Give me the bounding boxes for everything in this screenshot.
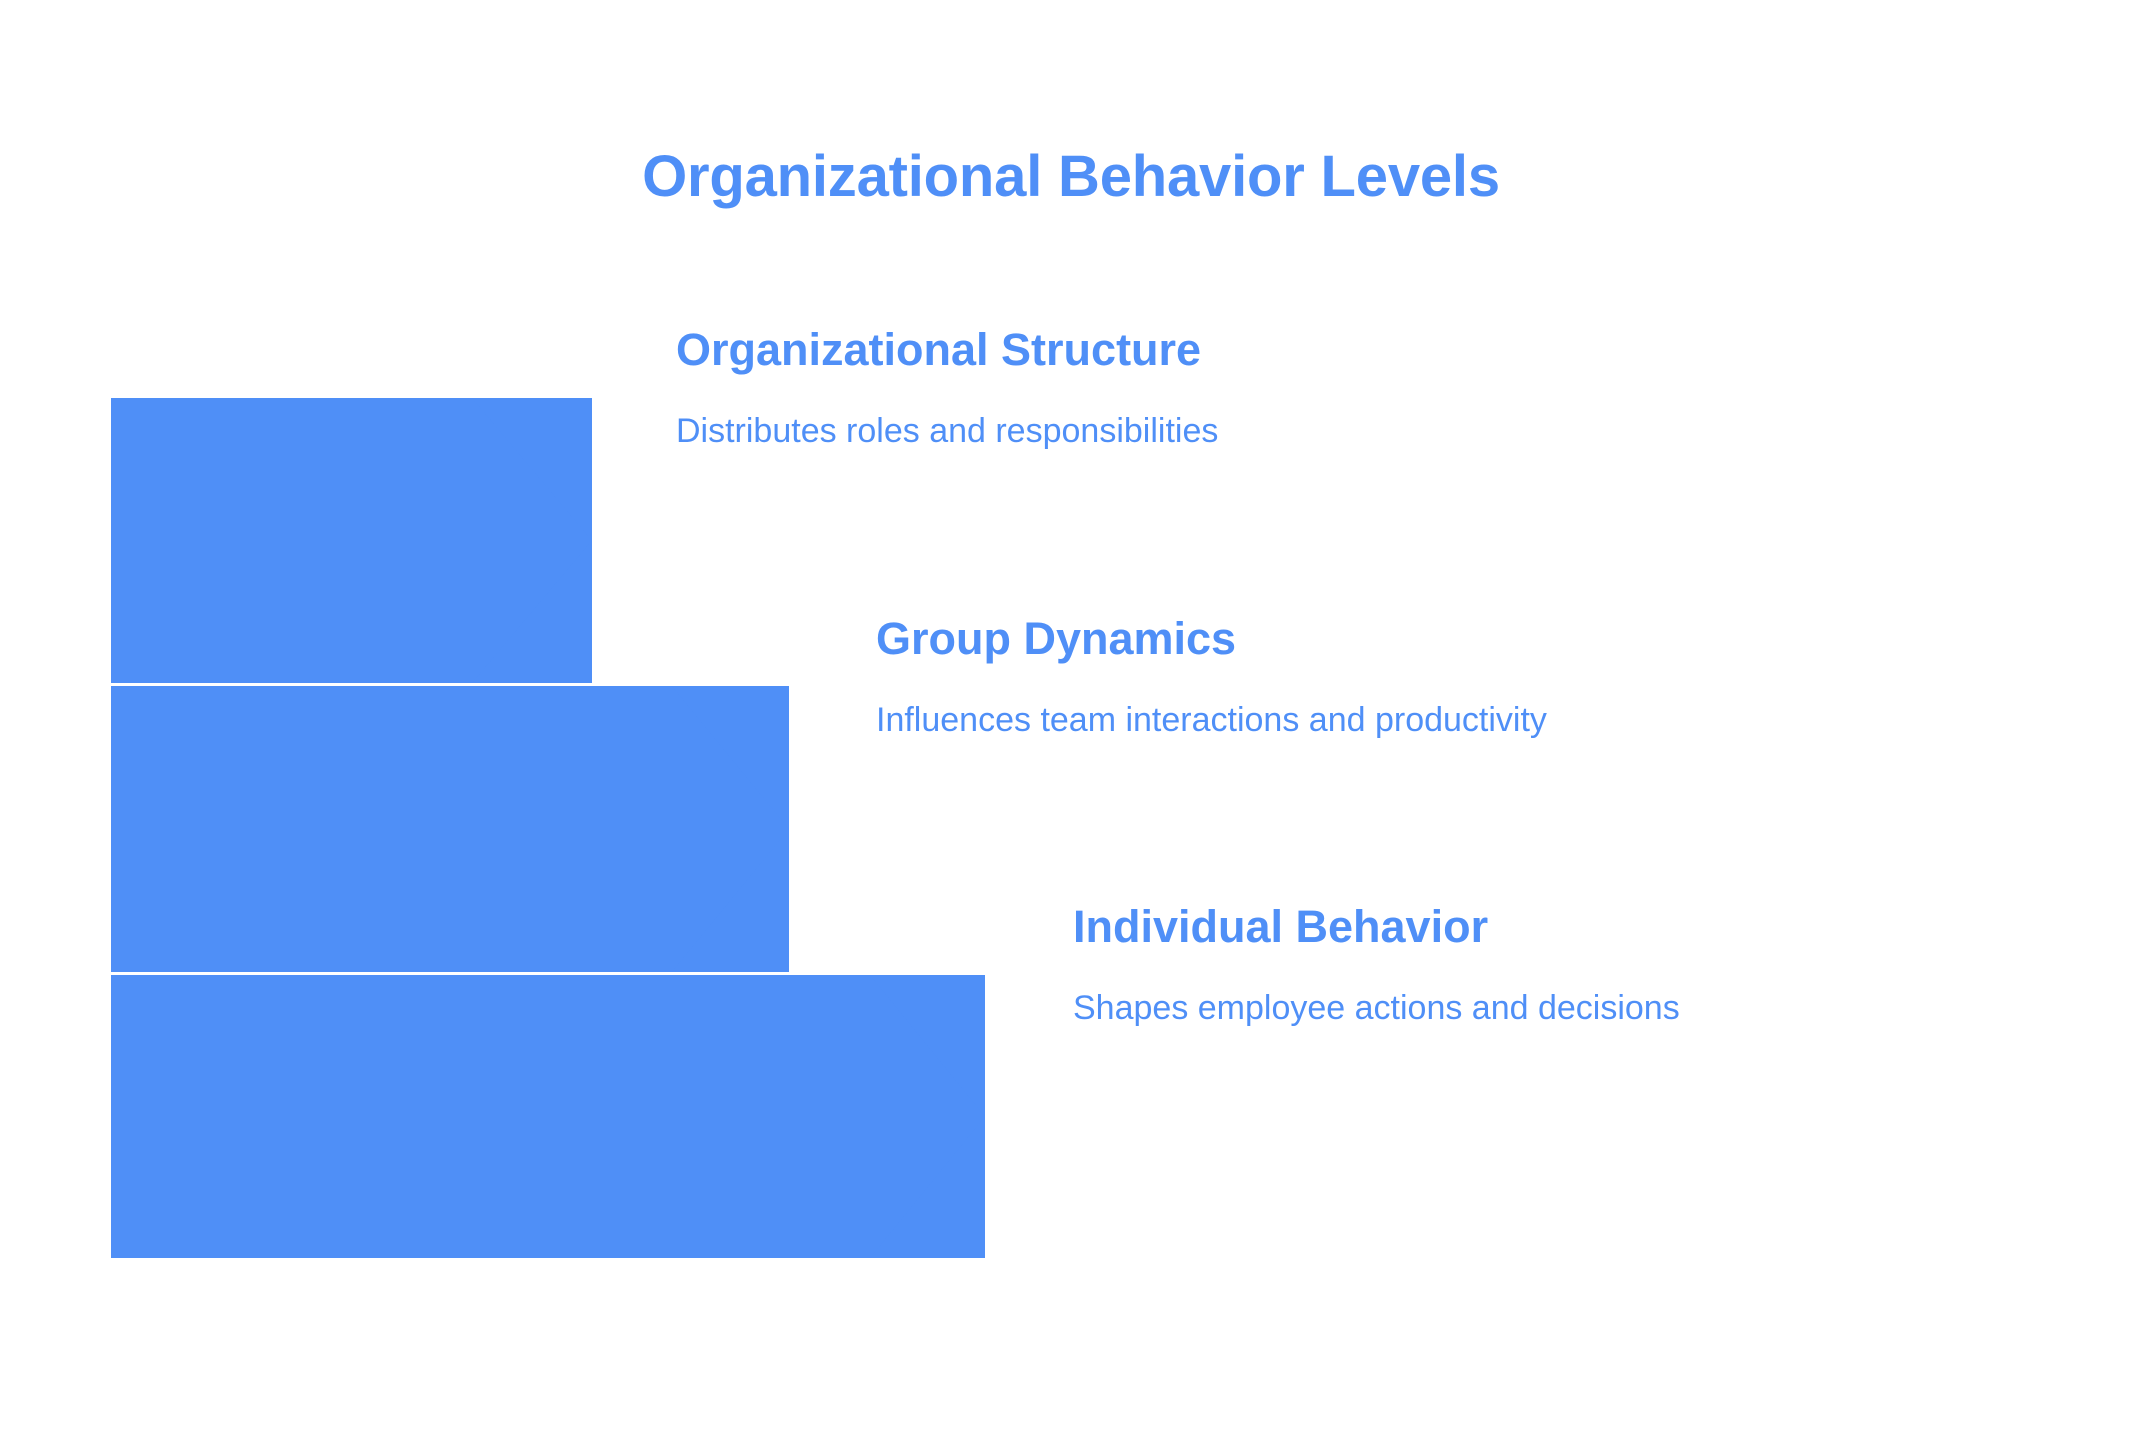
arrow-polygon xyxy=(111,686,789,972)
level-1-label: Organizational Structure xyxy=(676,326,1218,373)
level-3-description: Shapes employee actions and decisions xyxy=(1073,991,1680,1027)
arrow-polygon xyxy=(111,398,592,683)
level-2-description: Influences team interactions and product… xyxy=(876,703,1547,739)
diagram-canvas: Organizational Behavior Levels Organizat… xyxy=(0,0,2142,1440)
arrow-shape-organizational-structure[interactable] xyxy=(111,398,592,683)
level-3-label: Individual Behavior xyxy=(1073,903,1680,950)
page-title: Organizational Behavior Levels xyxy=(0,148,2142,206)
funnel-level-2-text: Group Dynamics Influences team interacti… xyxy=(876,615,1547,739)
level-2-label: Group Dynamics xyxy=(876,615,1547,662)
funnel-level-2[interactable]: Group Dynamics Influences team interacti… xyxy=(0,686,2142,972)
level-1-description: Distributes roles and responsibilities xyxy=(676,414,1218,450)
arrow-shape-group-dynamics[interactable] xyxy=(111,686,789,972)
arrow-shape-individual-behavior[interactable] xyxy=(111,975,985,1258)
funnel-level-3[interactable]: Individual Behavior Shapes employee acti… xyxy=(0,975,2142,1258)
funnel-level-3-text: Individual Behavior Shapes employee acti… xyxy=(1073,903,1680,1027)
funnel-level-1-text: Organizational Structure Distributes rol… xyxy=(676,326,1218,450)
arrow-polygon xyxy=(111,975,985,1258)
